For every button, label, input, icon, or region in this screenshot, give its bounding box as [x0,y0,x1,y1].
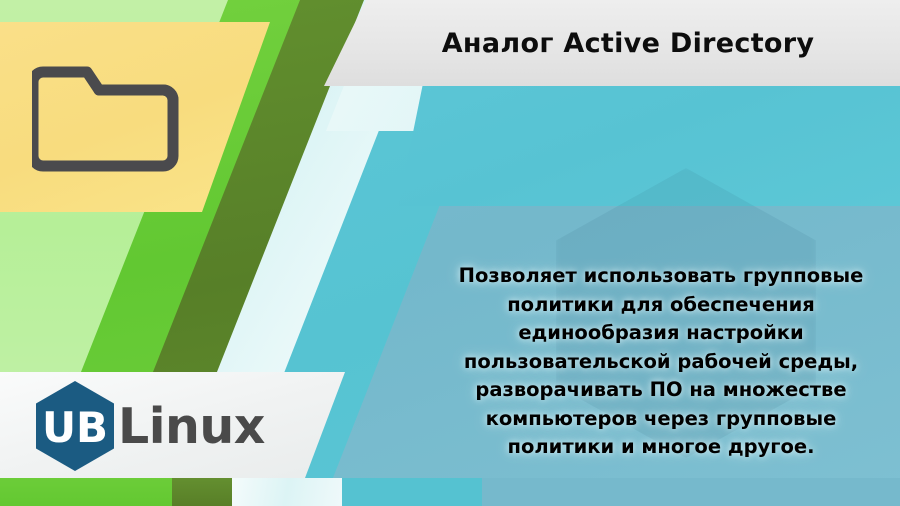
presentation-slide: Аналог Active Directory Позволяет исполь… [0,0,900,506]
slide-body-text: Позволяет использовать групповые политик… [452,262,870,462]
bottom-stripe-teal-muted [482,478,900,506]
brand-logo: UB Linux [34,380,265,472]
brand-name: Linux [118,402,265,451]
bottom-stripe-teal [342,478,482,506]
bottom-stripe-dark-green [172,478,232,506]
svg-text:UB: UB [42,403,108,452]
folder-icon [32,52,184,176]
bottom-stripe-pale-cyan [232,478,342,506]
page-title: Аналог Active Directory [378,0,878,86]
bottom-stripe-green [0,478,172,506]
bottom-stripe-group [0,478,900,506]
ub-hexagon-icon: UB [34,380,116,472]
